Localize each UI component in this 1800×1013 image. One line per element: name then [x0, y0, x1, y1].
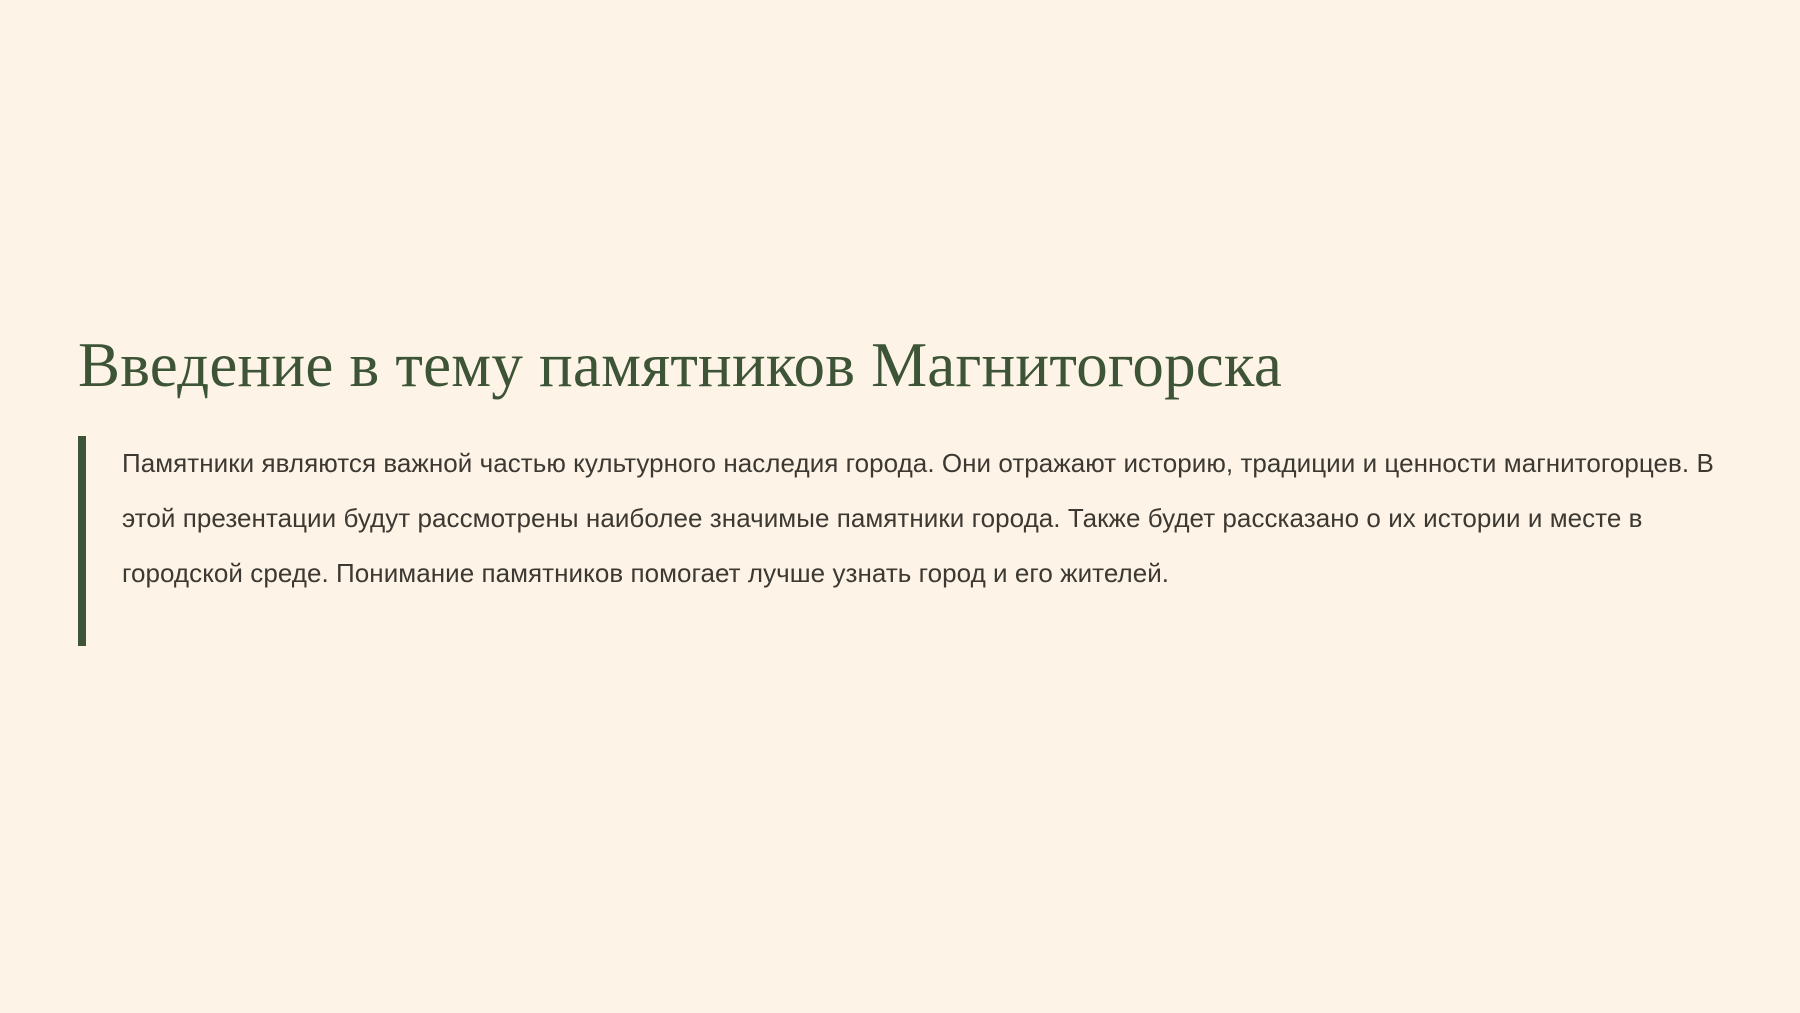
slide-root: Введение в тему памятников Магнитогорска… — [0, 0, 1800, 1013]
slide-content: Введение в тему памятников Магнитогорска… — [78, 330, 1728, 646]
body-paragraph: Памятники являются важной частью культур… — [122, 436, 1754, 601]
accent-bar — [78, 436, 86, 646]
page-title: Введение в тему памятников Магнитогорска — [78, 330, 1728, 401]
body-quote-block: Памятники являются важной частью культур… — [78, 436, 1728, 646]
